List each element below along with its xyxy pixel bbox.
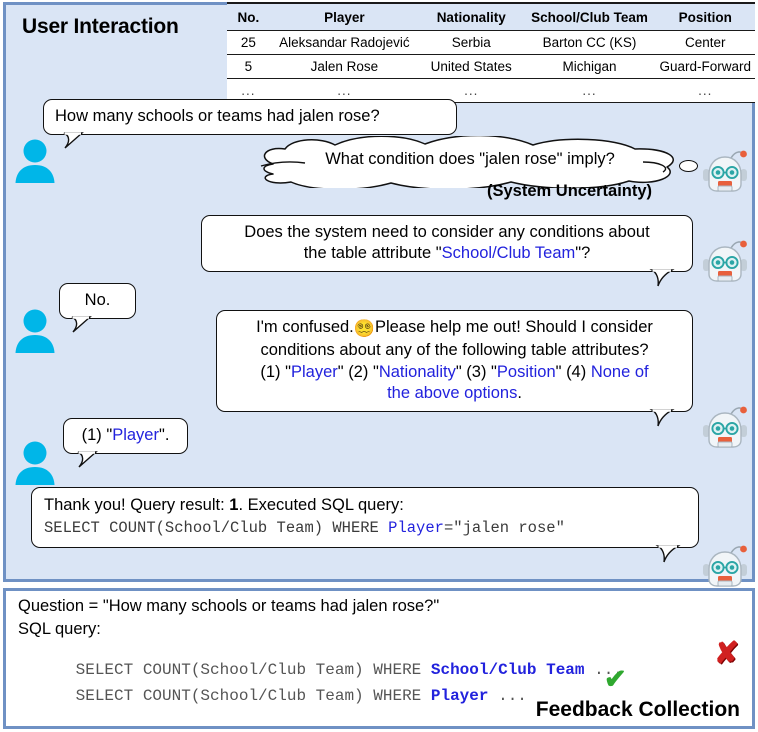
system-q2-end: . xyxy=(517,384,522,402)
table-header-row: No. Player Nationality School/Club Team … xyxy=(227,3,755,31)
feedback-sql-row-right: SELECT COUNT(School/Club Team) WHERE Pla… xyxy=(18,669,527,723)
bubble-tail-icon xyxy=(70,317,92,333)
attribute-player: Player xyxy=(112,426,159,444)
user-answer-pick-end: ". xyxy=(159,426,169,444)
system-q2-line1b: Please help me out! Should I consider xyxy=(375,318,653,336)
system-q2-line1a: I'm confused. xyxy=(256,318,354,336)
user-question-bubble: How many schools or teams had jalen rose… xyxy=(43,99,457,135)
table-cell: Barton CC (KS) xyxy=(524,31,656,55)
table-cell: Guard-Forward xyxy=(655,55,755,79)
final-answer-post: . Executed SQL query: xyxy=(238,496,403,514)
table-cell: 25 xyxy=(227,31,270,55)
table-header-nationality: Nationality xyxy=(419,3,524,31)
feedback-question-line: Question = "How many schools or teams ha… xyxy=(18,597,439,616)
sql-prefix: SELECT COUNT(School/Club Team) WHERE xyxy=(44,519,388,537)
system-q2-opt3-num: " (3) " xyxy=(456,363,497,381)
user-person-icon xyxy=(12,440,58,486)
system-question-2-bubble: I'm confused.😵‍💫Please help me out! Shou… xyxy=(216,310,693,412)
bubble-tail-icon xyxy=(62,133,84,149)
cross-mark-icon: ✘ xyxy=(714,636,739,671)
attribute-nationality: Nationality xyxy=(379,363,456,381)
final-answer-line: Thank you! Query result: 1. Executed SQL… xyxy=(44,495,686,516)
panel-title: User Interaction xyxy=(22,15,179,39)
feedback-sql-label: SQL query: xyxy=(18,620,101,639)
table-cell: ... xyxy=(655,79,755,103)
sql-attribute-player: Player xyxy=(388,519,444,537)
bubble-tail-icon xyxy=(76,452,98,468)
table-row: 25 Aleksandar Radojević Serbia Barton CC… xyxy=(227,31,755,55)
bubble-tail-icon xyxy=(648,270,674,287)
system-q2-line2: conditions about any of the following ta… xyxy=(260,341,648,359)
feedback-collection-panel: Question = "How many schools or teams ha… xyxy=(3,588,755,729)
final-answer-pre: Thank you! Query result: xyxy=(44,496,229,514)
attribute-school-club-team: School/Club Team xyxy=(442,244,576,262)
table-cell: Michigan xyxy=(524,55,656,79)
table-cell: Aleksandar Radojević xyxy=(270,31,419,55)
option-none-of-above-b: the above options xyxy=(387,384,517,402)
system-q2-opt4-num: " (4) xyxy=(556,363,591,381)
table-cell: Jalen Rose xyxy=(270,55,419,79)
user-answer-pick-num: (1) " xyxy=(82,426,113,444)
table-row: 5 Jalen Rose United States Michigan Guar… xyxy=(227,55,755,79)
user-answer-player-bubble: (1) "Player". xyxy=(63,418,188,454)
sql-suffix: ="jalen rose" xyxy=(444,519,565,537)
robot-head-icon xyxy=(701,238,749,284)
system-question-1-line2-pre: the table attribute " xyxy=(304,244,442,262)
user-answer-no-text: No. xyxy=(85,291,111,309)
database-table: No. Player Nationality School/Club Team … xyxy=(227,2,755,103)
robot-head-icon xyxy=(701,543,749,589)
user-person-icon xyxy=(12,308,58,354)
system-thought-text: What condition does "jalen rose" imply? xyxy=(305,150,635,169)
system-question-1-line2-post: "? xyxy=(575,244,590,262)
sql-suffix: ... xyxy=(488,687,526,705)
sql-prefix: SELECT COUNT(School/Club Team) WHERE xyxy=(76,687,431,705)
robot-head-icon xyxy=(701,404,749,450)
check-mark-icon: ✔ xyxy=(604,664,627,695)
sql-attribute-player: Player xyxy=(431,687,489,705)
system-q2-opt1-num: (1) " xyxy=(260,363,291,381)
system-thought-cloud: What condition does "jalen rose" imply? xyxy=(243,136,688,188)
option-none-of-above-a: None of xyxy=(591,363,649,381)
table-cell: 5 xyxy=(227,55,270,79)
table-header-school-club-team: School/Club Team xyxy=(524,3,656,31)
table-cell: Center xyxy=(655,31,755,55)
executed-sql-query: SELECT COUNT(School/Club Team) WHERE Pla… xyxy=(44,519,686,539)
system-q2-opt2-num: " (2) " xyxy=(338,363,379,381)
attribute-position: Position xyxy=(497,363,556,381)
thought-dot-icon xyxy=(679,160,698,172)
table-header-no: No. xyxy=(227,3,270,31)
screenshot-root: User Interaction No. Player Nationality … xyxy=(0,0,758,732)
user-answer-no-bubble: No. xyxy=(59,283,136,319)
table-header-position: Position xyxy=(655,3,755,31)
system-question-1-bubble: Does the system need to consider any con… xyxy=(201,215,693,272)
system-final-answer-bubble: Thank you! Query result: 1. Executed SQL… xyxy=(31,487,699,548)
bubble-tail-icon xyxy=(654,546,680,563)
table-header-player: Player xyxy=(270,3,419,31)
user-question-text: How many schools or teams had jalen rose… xyxy=(55,107,380,125)
dizzy-face-emoji-icon: 😵‍💫 xyxy=(354,319,375,338)
feedback-panel-title: Feedback Collection xyxy=(536,698,740,722)
table-cell: ... xyxy=(524,79,656,103)
attribute-player: Player xyxy=(291,363,338,381)
robot-head-icon xyxy=(701,148,749,194)
system-question-1-line1: Does the system need to consider any con… xyxy=(244,223,649,241)
bubble-tail-icon xyxy=(648,410,674,427)
table-cell: United States xyxy=(419,55,524,79)
user-person-icon xyxy=(12,138,58,184)
system-uncertainty-label: (System Uncertainty) xyxy=(487,182,652,201)
table-cell: Serbia xyxy=(419,31,524,55)
